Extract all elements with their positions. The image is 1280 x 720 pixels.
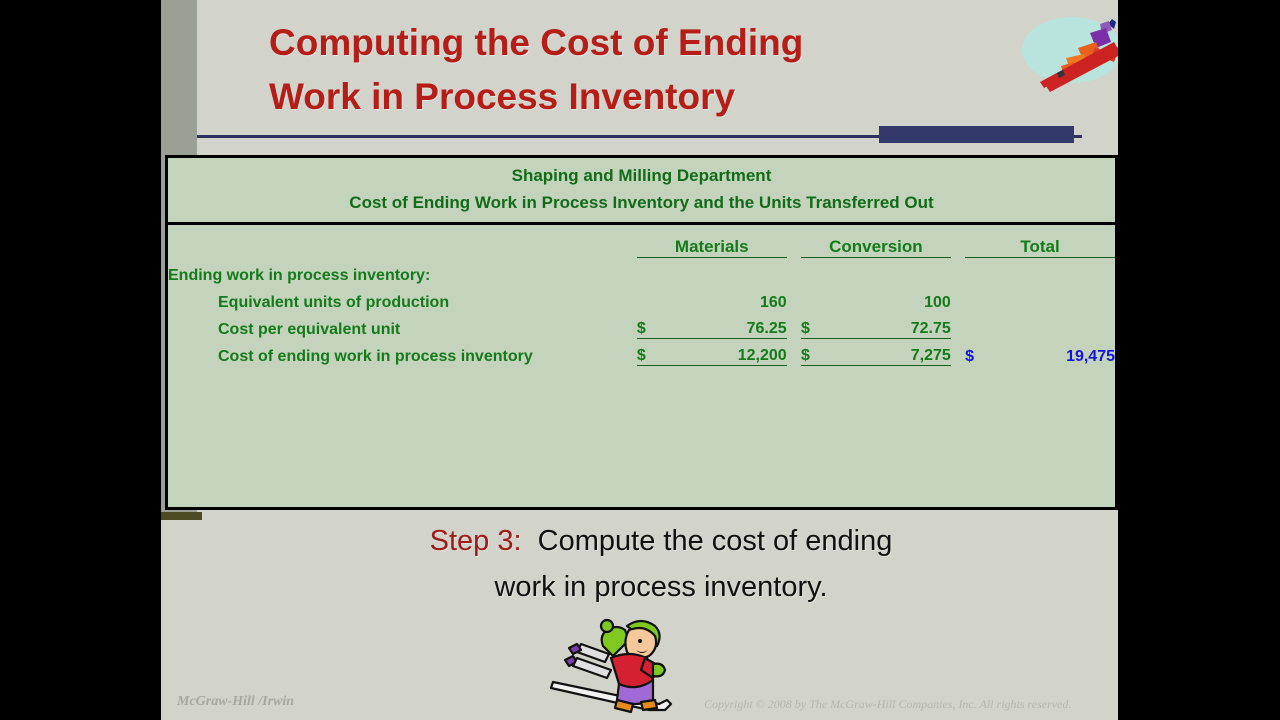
table-header-row: Materials Conversion Total bbox=[168, 225, 1115, 258]
title-line-2: Work in Process Inventory bbox=[269, 70, 989, 124]
row2-materials-value: 12,200 bbox=[672, 339, 787, 366]
row1-gap-1 bbox=[787, 312, 801, 339]
row0-materials-value: 160 bbox=[672, 285, 787, 312]
child-skier-icon bbox=[541, 600, 681, 718]
slide-stage: Computing the Cost of Ending Work in Pro… bbox=[0, 0, 1280, 720]
row-label-equivalent-units: Equivalent units of production bbox=[168, 285, 637, 312]
table-row: Cost of ending work in process inventory… bbox=[168, 339, 1115, 366]
caption-line-1: Step 3: Compute the cost of ending bbox=[271, 518, 1051, 564]
step-label: Step 3: bbox=[430, 525, 522, 557]
section-materials-blank bbox=[637, 258, 787, 285]
table-section-row: Ending work in process inventory: bbox=[168, 258, 1115, 285]
section-total-blank bbox=[965, 258, 1115, 285]
header-spacer bbox=[168, 225, 637, 258]
row1-conversion-value: 72.75 bbox=[836, 312, 951, 339]
row0-total-value bbox=[1000, 285, 1115, 312]
slide-left-band-foot bbox=[161, 512, 202, 520]
row-label-cost-per-equivalent-unit: Cost per equivalent unit bbox=[168, 312, 637, 339]
row2-gap-2 bbox=[951, 339, 965, 366]
cost-table: Materials Conversion Total Ending work i… bbox=[168, 225, 1115, 366]
column-header-materials: Materials bbox=[637, 225, 787, 258]
row1-gap-2 bbox=[951, 312, 965, 339]
row-label-cost-of-ending-wip: Cost of ending work in process inventory bbox=[168, 339, 637, 366]
row2-total-value: 19,475 bbox=[1000, 339, 1115, 366]
row1-materials-value: 76.25 bbox=[672, 312, 787, 339]
row2-materials-currency: $ bbox=[637, 339, 672, 366]
header-gap-2 bbox=[951, 225, 965, 258]
presentation-slide: Computing the Cost of Ending Work in Pro… bbox=[161, 0, 1118, 720]
exhibit-heading: Shaping and Milling Department Cost of E… bbox=[168, 158, 1115, 225]
page-title: Computing the Cost of Ending Work in Pro… bbox=[269, 16, 989, 124]
header-gap-1 bbox=[787, 225, 801, 258]
row0-gap-1 bbox=[787, 285, 801, 312]
title-divider-cap bbox=[879, 126, 1074, 143]
exhibit-panel: Shaping and Milling Department Cost of E… bbox=[165, 155, 1118, 510]
section-conversion-blank bbox=[801, 258, 951, 285]
row2-total-currency: $ bbox=[965, 339, 1000, 366]
downhill-skier-icon bbox=[1016, 2, 1118, 98]
section-gap-2 bbox=[951, 258, 965, 285]
step-caption: Step 3: Compute the cost of ending work … bbox=[271, 518, 1051, 610]
footer-copyright: Copyright © 2008 by The McGraw-Hill Comp… bbox=[704, 697, 1071, 712]
row0-materials-currency bbox=[637, 285, 672, 312]
row1-total-currency bbox=[965, 312, 1000, 339]
row2-gap-1 bbox=[787, 339, 801, 366]
row2-conversion-currency: $ bbox=[801, 339, 836, 366]
footer-brand: McGraw-Hill /Irwin bbox=[177, 694, 294, 710]
table-row: Equivalent units of production 160 100 bbox=[168, 285, 1115, 312]
column-header-conversion: Conversion bbox=[801, 225, 951, 258]
row0-conversion-value: 100 bbox=[836, 285, 951, 312]
exhibit-heading-line-2: Cost of Ending Work in Process Inventory… bbox=[168, 189, 1115, 216]
section-gap-1 bbox=[787, 258, 801, 285]
title-line-1: Computing the Cost of Ending bbox=[269, 16, 989, 70]
caption-text-1: Compute the cost of ending bbox=[538, 525, 893, 557]
exhibit-heading-line-1: Shaping and Milling Department bbox=[168, 162, 1115, 189]
row0-gap-2 bbox=[951, 285, 965, 312]
row0-total-currency bbox=[965, 285, 1000, 312]
caption-text-2: work in process inventory. bbox=[494, 571, 827, 603]
row1-conversion-currency: $ bbox=[801, 312, 836, 339]
row1-materials-currency: $ bbox=[637, 312, 672, 339]
row1-total-value bbox=[1000, 312, 1115, 339]
row2-conversion-value: 7,275 bbox=[836, 339, 951, 366]
section-label: Ending work in process inventory: bbox=[168, 258, 637, 285]
column-header-total: Total bbox=[965, 225, 1115, 258]
row0-conversion-currency bbox=[801, 285, 836, 312]
table-row: Cost per equivalent unit $ 76.25 $ 72.75 bbox=[168, 312, 1115, 339]
